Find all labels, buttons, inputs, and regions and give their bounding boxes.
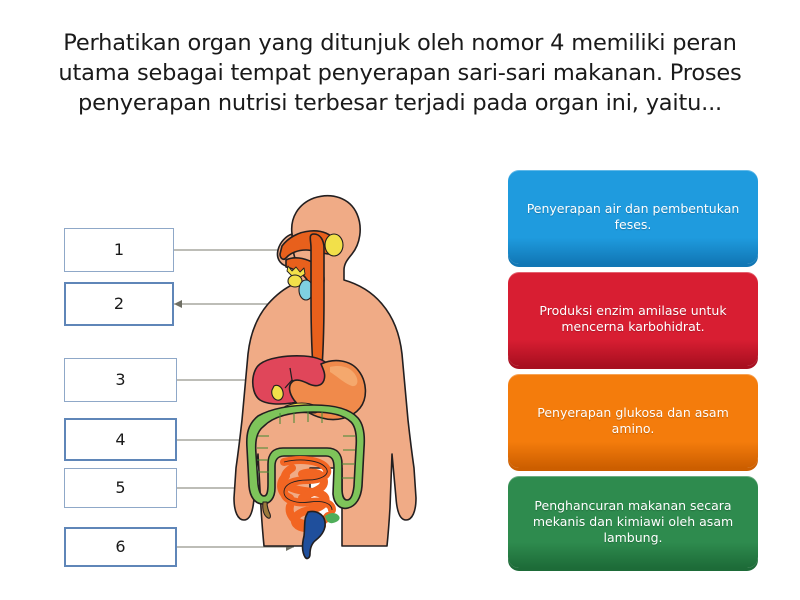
answer-card-2-text: Produksi enzim amilase untuk mencerna ka… (520, 303, 746, 335)
answer-card-3[interactable]: Penyerapan glukosa dan asam amino. (508, 374, 758, 468)
label-number-1: 1 (114, 242, 124, 258)
label-number-3: 3 (115, 372, 125, 388)
question-line-3: penyerapan nutrisi terbesar terjadi pada… (22, 88, 778, 118)
answer-card-1-text: Penyerapan air dan pembentukan feses. (520, 201, 746, 233)
answer-card-3-text: Penyerapan glukosa dan asam amino. (520, 405, 746, 437)
label-box-4[interactable]: 4 (64, 418, 177, 461)
label-number-5: 5 (115, 480, 125, 496)
question-line-1: Perhatikan organ yang ditunjuk oleh nomo… (22, 28, 778, 58)
answer-options: Penyerapan air dan pembentukan feses. Pr… (508, 168, 758, 568)
rectum (303, 511, 326, 558)
label-box-2[interactable]: 2 (64, 282, 174, 326)
gallbladder (272, 385, 283, 400)
connector-arrow-2 (174, 300, 182, 308)
label-number-4: 4 (115, 432, 125, 448)
answer-card-4-text: Penghancuran makanan secara mekanis dan … (520, 498, 746, 546)
answer-card-4[interactable]: Penghancuran makanan secara mekanis dan … (508, 476, 758, 568)
label-box-3[interactable]: 3 (64, 358, 177, 402)
answer-card-2[interactable]: Produksi enzim amilase untuk mencerna ka… (508, 272, 758, 366)
label-number-6: 6 (115, 539, 125, 555)
digestive-system-diagram: 1 2 3 4 5 6 (42, 168, 472, 568)
label-box-6[interactable]: 6 (64, 527, 177, 567)
label-number-2: 2 (114, 296, 124, 312)
answer-card-1[interactable]: Penyerapan air dan pembentukan feses. (508, 170, 758, 264)
parotid-gland (325, 234, 343, 256)
label-box-1[interactable]: 1 (64, 228, 174, 272)
question-line-2: utama sebagai tempat penyerapan sari-sar… (22, 58, 778, 88)
label-box-5[interactable]: 5 (64, 468, 177, 508)
question-text: Perhatikan organ yang ditunjuk oleh nomo… (0, 28, 800, 118)
